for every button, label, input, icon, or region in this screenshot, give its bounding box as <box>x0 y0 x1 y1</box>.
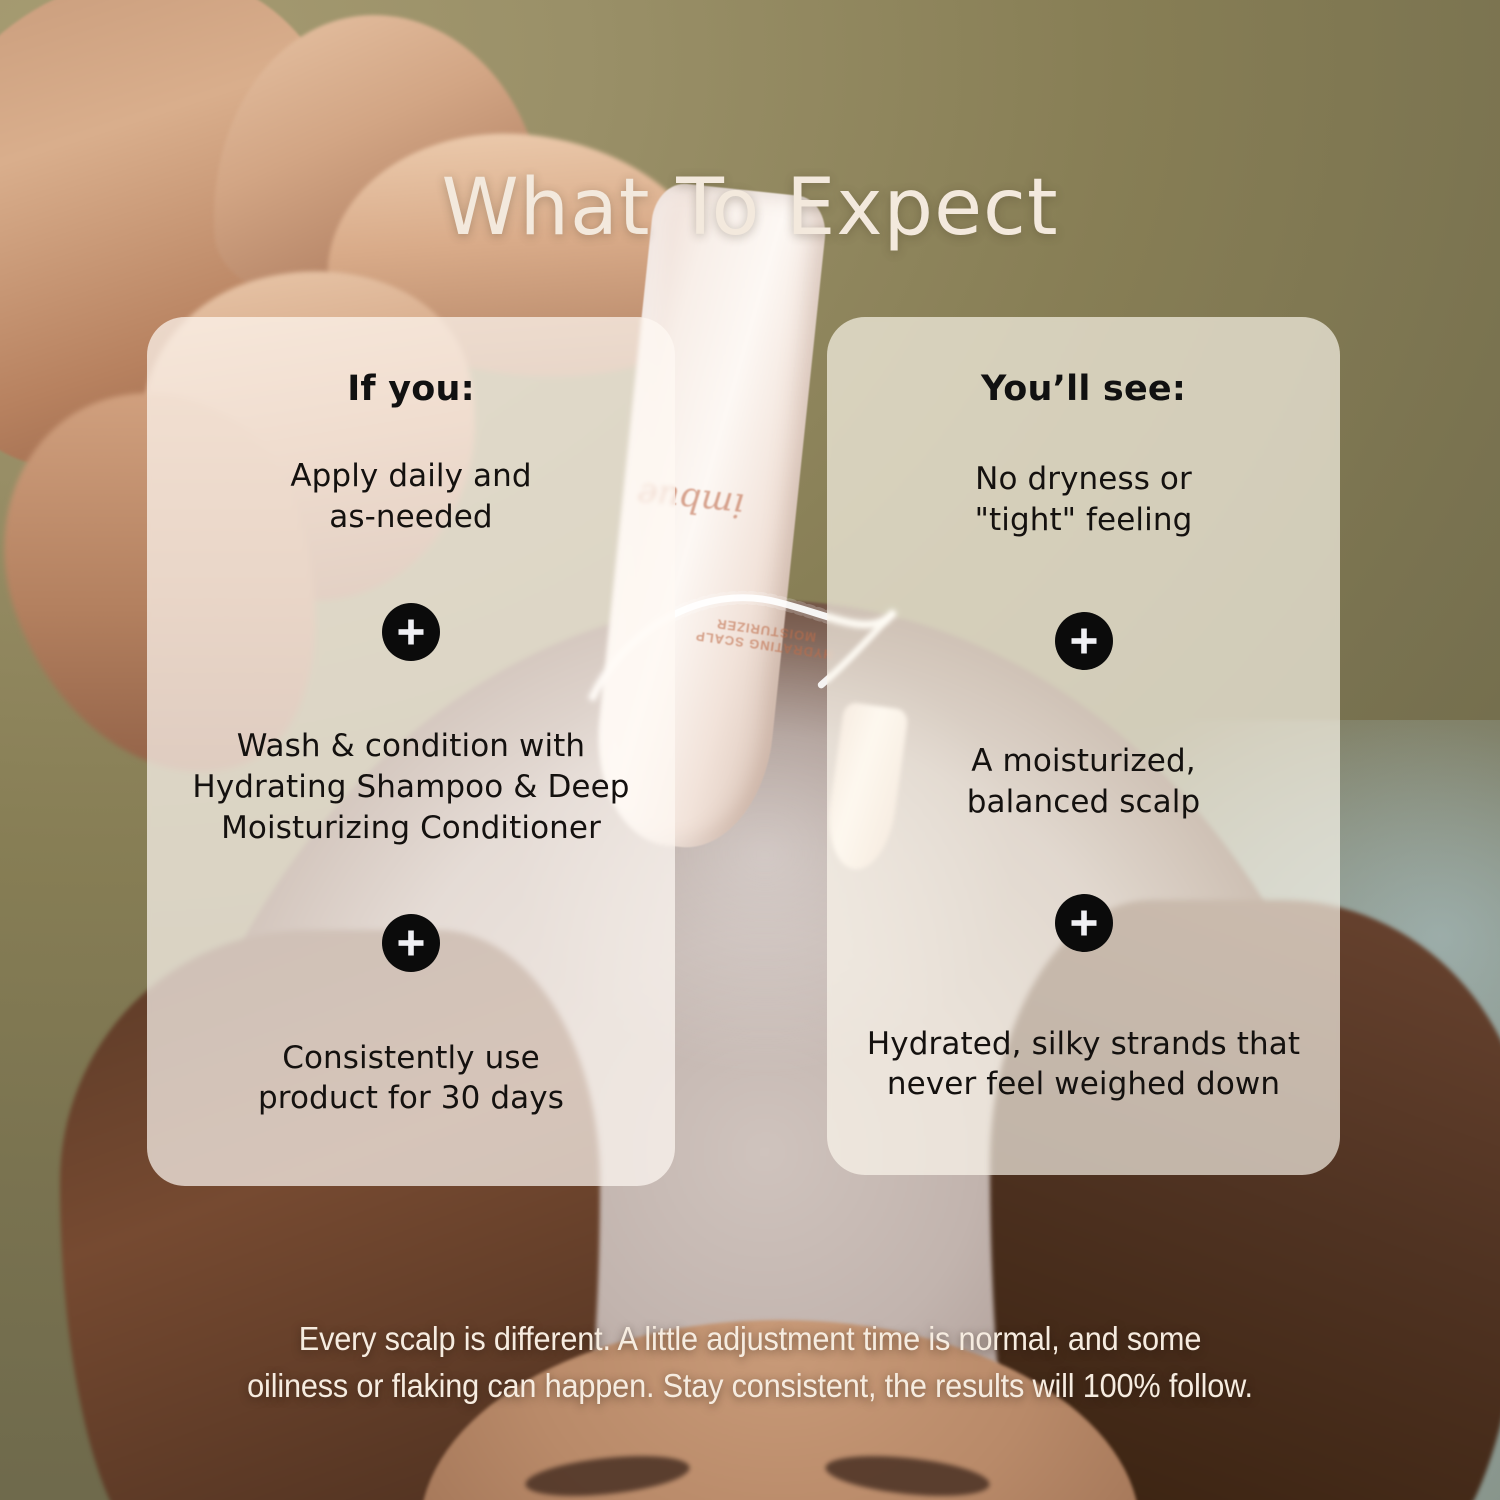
card-body-youll-see: No dryness or "tight" feeling A moisturi… <box>853 409 1314 1141</box>
what-to-expect-infographic: imbue HYDRATING SCALP MOISTURIZER What T… <box>0 0 1500 1500</box>
step-text: No dryness or "tight" feeling <box>975 459 1193 541</box>
card-body-if-you: Apply daily and as-needed Wash & conditi… <box>173 409 649 1152</box>
card-if-you: If you: Apply daily and as-needed Wash &… <box>147 317 675 1186</box>
plus-icon <box>382 914 440 972</box>
plus-icon <box>1055 612 1113 670</box>
step-text: Wash & condition with Hydrating Shampoo … <box>192 726 629 849</box>
card-heading-if-you: If you: <box>347 369 475 409</box>
plus-icon <box>382 603 440 661</box>
step-text: Consistently use product for 30 days <box>258 1038 564 1120</box>
card-heading-youll-see: You’ll see: <box>981 369 1186 409</box>
page-title: What To Expect <box>0 169 1500 247</box>
step-text: A moisturized, balanced scalp <box>967 741 1200 823</box>
step-text: Hydrated, silky strands that never feel … <box>867 1024 1300 1106</box>
card-youll-see: You’ll see: No dryness or "tight" feelin… <box>827 317 1340 1175</box>
plus-icon <box>1055 894 1113 952</box>
disclaimer-text: Every scalp is different. A little adjus… <box>178 1316 1322 1410</box>
step-text: Apply daily and as-needed <box>290 456 531 538</box>
